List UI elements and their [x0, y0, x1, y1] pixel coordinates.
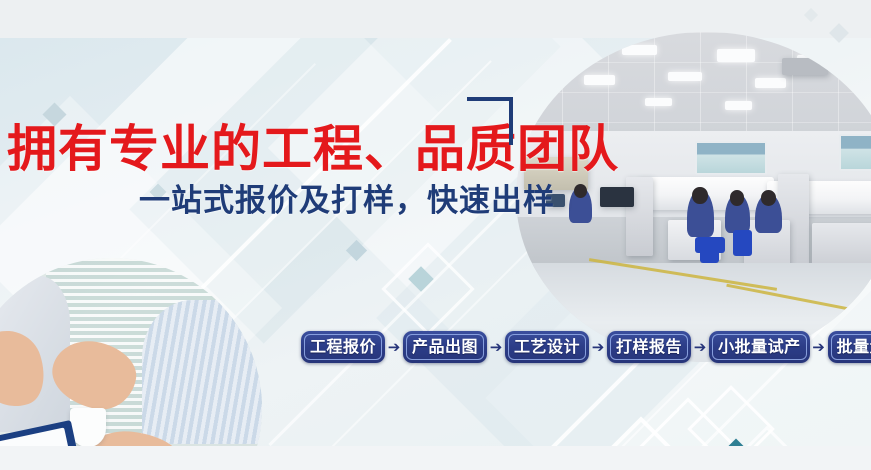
subtitle-text: 一站式报价及打样，快速出样 [139, 183, 555, 219]
arrow-right-icon: ➔ [387, 338, 401, 356]
corner-bracket-decoration [467, 97, 513, 145]
process-step-label: 打样报告 [616, 338, 682, 355]
process-step-label: 工程报价 [310, 338, 376, 355]
arrow-right-icon: ➔ [812, 338, 826, 356]
arrow-right-icon: ➔ [591, 338, 605, 356]
diamond-accent [804, 8, 818, 22]
process-step-2[interactable]: 产品出图 [403, 331, 487, 363]
headline-text: 拥有专业的工程、品质团队 [7, 122, 619, 176]
office-workshop-photo [516, 32, 871, 362]
process-step-1[interactable]: 工程报价 [301, 331, 385, 363]
process-step-6[interactable]: 批量量产 [828, 331, 871, 363]
process-step-label: 产品出图 [412, 338, 478, 355]
process-flow: 工程报价 ➔ 产品出图 ➔ 工艺设计 ➔ 打样报告 ➔ 小批量试产 ➔ 批量量产 [301, 331, 871, 363]
process-step-label: 批量量产 [837, 338, 871, 355]
process-step-5[interactable]: 小批量试产 [709, 331, 810, 363]
process-step-4[interactable]: 打样报告 [607, 331, 691, 363]
process-step-label: 小批量试产 [718, 338, 801, 355]
business-meeting-photo [0, 258, 262, 470]
promo-banner: 拥有专业的工程、品质团队 一站式报价及打样，快速出样 工程报价 ➔ 产品出图 ➔… [0, 0, 871, 470]
process-step-label: 工艺设计 [514, 338, 580, 355]
bottom-margin-strip [0, 446, 871, 470]
arrow-right-icon: ➔ [693, 338, 707, 356]
arrow-right-icon: ➔ [489, 338, 503, 356]
process-step-3[interactable]: 工艺设计 [505, 331, 589, 363]
